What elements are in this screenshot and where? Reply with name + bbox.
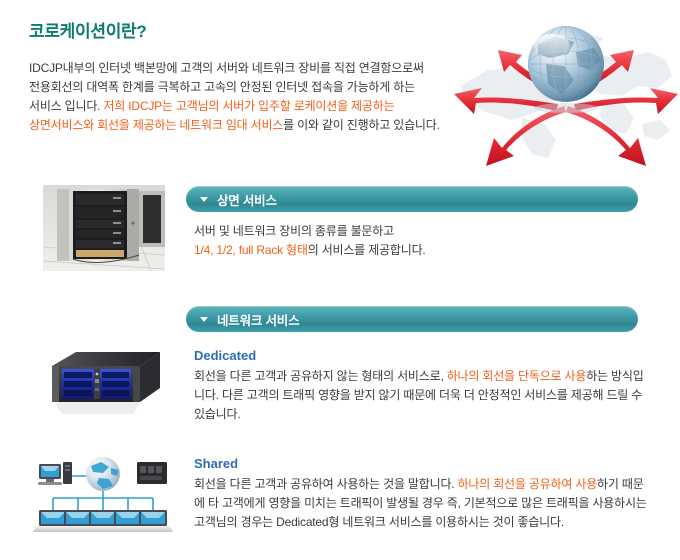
dedicated-copy: Dedicated 회선을 다른 고객과 공유하지 않는 형태의 서비스로, 하… bbox=[194, 346, 654, 424]
chevron-down-icon bbox=[200, 317, 208, 322]
intro-paragraph: IDCJP내부의 인터넷 백본망에 고객의 서버와 네트워크 장비를 직접 연결… bbox=[29, 59, 479, 135]
colocation-line-3: 의 서비스를 제공합니다. bbox=[308, 243, 426, 257]
shared-heading: Shared bbox=[194, 454, 654, 473]
intro-section: 코로케이션이란? IDCJP내부의 인터넷 백본망에 고객의 서버와 네트워크 … bbox=[0, 0, 680, 175]
network-topology-diagram bbox=[33, 452, 173, 544]
globe-graphic bbox=[452, 8, 680, 170]
shared-line-1: 회선을 다른 고객과 공유하여 사용하는 것을 말합니다. bbox=[194, 477, 458, 491]
laptop-row bbox=[33, 510, 173, 532]
intro-line-3: 서비스 입니다. bbox=[29, 99, 103, 113]
colocation-line-2-highlight: 1/4, 1/2, full Rack 형태 bbox=[194, 243, 308, 257]
intro-line-1: IDCJP내부의 인터넷 백본망에 고객의 서버와 네트워크 장비를 직접 연결… bbox=[29, 61, 424, 75]
section-header-colocation[interactable]: 상면 서비스 bbox=[186, 186, 638, 212]
section-header-network[interactable]: 네트워크 서비스 bbox=[186, 306, 638, 332]
intro-line-4-highlight: 저희 IDCJP는 고객님의 서버가 입주할 로케이션을 제공하는 bbox=[103, 99, 394, 113]
dedicated-line-1: 회선을 다른 고객과 공유하지 않는 형태의 서비스로, bbox=[194, 369, 447, 383]
colocation-page: 코로케이션이란? IDCJP내부의 인터넷 백본망에 고객의 서버와 네트워크 … bbox=[0, 0, 680, 560]
server-rack-photo bbox=[43, 185, 165, 271]
server-node bbox=[137, 462, 167, 484]
intro-line-5-highlight: 상면서비스와 회선을 제공하는 네트워크 임대 서비스 bbox=[29, 118, 283, 132]
colocation-copy: 서버 및 네트워크 장비의 종류를 불문하고 1/4, 1/2, full Ra… bbox=[194, 222, 654, 260]
dedicated-heading: Dedicated bbox=[194, 346, 654, 365]
colocation-line-1: 서버 및 네트워크 장비의 종류를 불문하고 bbox=[194, 224, 394, 238]
chevron-down-icon bbox=[200, 197, 208, 202]
page-title: 코로케이션이란? bbox=[29, 17, 146, 42]
shared-copy: Shared 회선을 다른 고객과 공유하여 사용하는 것을 말합니다. 하나의… bbox=[194, 454, 654, 532]
section-header-network-label: 네트워크 서비스 bbox=[217, 310, 299, 329]
center-globe bbox=[86, 457, 120, 491]
rackmount-server-photo bbox=[40, 344, 168, 420]
shared-line-2-highlight: 하나의 회선을 공유하여 사용 bbox=[458, 477, 597, 491]
intro-line-6: 를 이와 같이 진행하고 있습니다. bbox=[283, 118, 440, 132]
dedicated-line-2-highlight: 하나의 회선을 단독으로 사용 bbox=[447, 369, 586, 383]
intro-line-2: 전용회선의 대역폭 한계를 극복하고 고속의 안정된 인터넷 접속을 가능하게 … bbox=[29, 80, 415, 94]
section-header-colocation-label: 상면 서비스 bbox=[217, 190, 277, 209]
